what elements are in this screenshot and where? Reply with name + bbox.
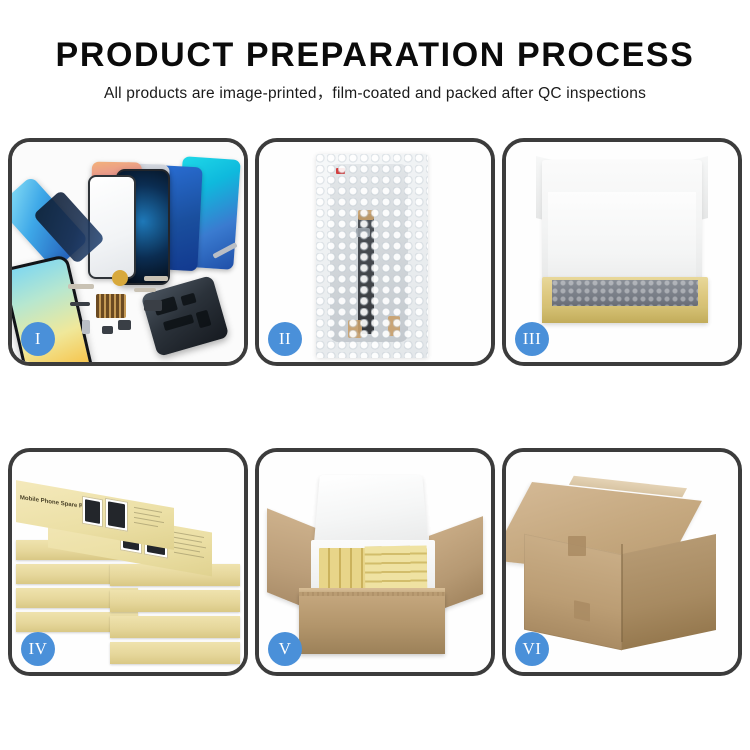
page-title: PRODUCT PREPARATION PROCESS [0,0,750,76]
page-subtitle: All products are image-printed，film-coat… [0,76,750,104]
process-step-panel-5[interactable]: V Boxes loaded into foam-insulated carto… [255,448,495,676]
step-badge-5: V [268,632,302,666]
process-step-panel-6[interactable]: VI Sealed brown shipping carton ready fo… [502,448,742,676]
speaker-module-icon [118,320,131,330]
carton-front-panel-icon [299,592,445,654]
step-badge-3: III [515,322,549,356]
vibration-motor-icon [112,270,128,286]
process-step-panel-2[interactable]: II Single screen assembly sealed in bubb… [255,138,495,366]
yellow-box-front-edge-icon [542,306,708,323]
process-step-grid: I Mobile phone LCD screens, glass panels… [8,138,742,683]
battery-connector-icon [82,320,90,334]
corrugation-texture-icon [299,592,445,596]
stacked-box-right-3 [110,590,240,612]
process-step-panel-3[interactable]: III Wrapped item placed in yellow kraft … [502,138,742,366]
camera-module-icon [144,300,162,311]
step-6-image: VI [506,452,738,672]
process-step-panel-4[interactable]: Mobile Phone Spare Parts Mobile Phone Sp… [8,448,248,676]
carton-tab-front-icon [574,600,590,621]
box-spec-line-2e [174,552,204,558]
flex-cable-icon [68,284,94,289]
box-window-1b [105,498,128,532]
stacked-box-right-1 [110,642,240,664]
step-1-image: I [12,142,244,362]
bubble-texture-icon [316,154,428,358]
step-badge-1: I [21,322,55,356]
power-button-flex-icon [144,276,168,281]
box-stack-icon: Mobile Phone Spare Parts Mobile Phone Sp… [14,464,244,664]
foam-box-lid-icon [314,475,428,544]
screws-icon [220,340,234,350]
carton-tab-top-icon [568,536,586,556]
foam-panel-icon [548,192,696,280]
charging-port-icon [102,326,113,334]
home-button-flex-icon [134,288,156,292]
stacked-box-right-2 [110,616,240,638]
step-5-image: V [259,452,491,672]
carton-seam-icon [621,544,623,642]
carton-side-face-icon [622,534,716,650]
step-2-image: II [259,142,491,362]
box-window-1a [82,496,103,528]
sim-tray-grid-icon [96,294,126,318]
antenna-flex-icon [70,302,90,306]
step-3-image: III [506,142,738,362]
process-step-panel-1[interactable]: I Mobile phone LCD screens, glass panels… [8,138,248,366]
header: PRODUCT PREPARATION PROCESS All products… [0,0,750,104]
bubble-wrap-bag-icon [316,154,428,358]
box-spec-line-1d [134,522,158,527]
product-preparation-infographic: PRODUCT PREPARATION PROCESS All products… [0,0,750,750]
step-badge-6: VI [515,632,549,666]
step-badge-4: IV [21,632,55,666]
step-4-image: Mobile Phone Spare Parts Mobile Phone Sp… [12,452,244,672]
step-badge-2: II [268,322,302,356]
